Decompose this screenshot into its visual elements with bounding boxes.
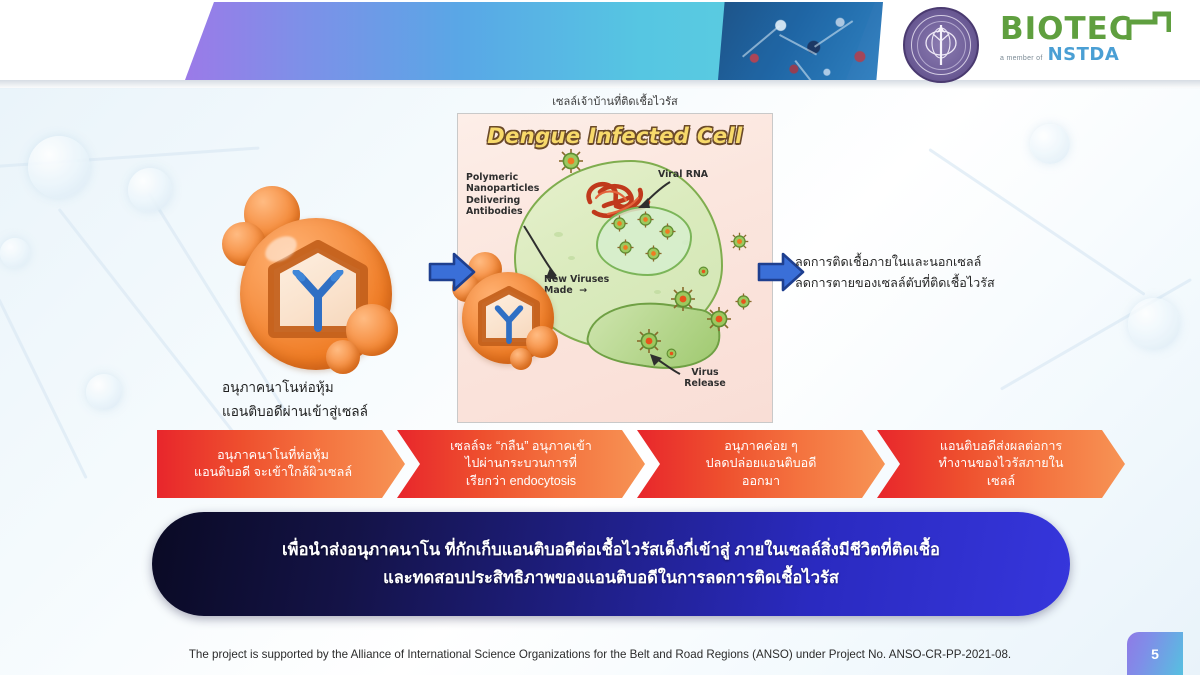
label-polymeric-nanoparticles: PolymericNanoparticlesDeliveringAntibodi… (466, 172, 552, 218)
process-step-1[interactable]: อนุภาคนาโนที่ห่อหุ้ม แอนติบอดี จะเข้าใกล… (157, 430, 405, 498)
process-step-1-line1: อนุภาคนาโนที่ห่อหุ้ม (194, 447, 352, 465)
process-step-3-line3: ออกมา (706, 473, 817, 491)
footer-credit: The project is supported by the Alliance… (0, 648, 1200, 661)
nanoparticle-large (222, 186, 422, 386)
virus-particle-icon (610, 214, 629, 233)
process-step-2-line1: เซลล์จะ “กลืน” อนุภาคเข้า (450, 438, 592, 456)
process-step-4-line3: เซลล์ (939, 473, 1064, 491)
header-band: BIOTEC a member of NSTDA (0, 0, 1200, 88)
virus-particle-icon (616, 238, 635, 257)
outcome-text: ลดการติดเชื้อภายในและนอกเซลล์ ลดการตายขอ… (795, 252, 1045, 294)
virus-particle-icon (644, 244, 663, 263)
process-step-2-line2: ไปผ่านกระบวนการที่ (450, 455, 592, 473)
nanoparticle-caption-line2: แอนติบอดีผ่านเข้าสู่เซลล์ (222, 400, 472, 424)
process-step-1-line2: แอนติบอดี จะเข้าใกล้ผิวเซลล์ (194, 464, 352, 482)
cell-image-title: Dengue Infected Cell (458, 124, 772, 148)
process-step-3-line1: อนุภาคค่อย ๆ (706, 438, 817, 456)
cell-image-caption: เซลล์เจ้าบ้านที่ติดเชื้อไวรัส (455, 92, 775, 110)
nanoparticle-caption: อนุภาคนาโนห่อหุ้ม แอนติบอดีผ่านเข้าสู่เซ… (222, 376, 472, 424)
process-step-4[interactable]: แอนติบอดีส่งผลต่อการ ทำงานของไวรัสภายใน … (877, 430, 1125, 498)
label-virus-release: VirusRelease (676, 367, 734, 390)
nanoparticle-caption-line1: อนุภาคนาโนห่อหุ้ม (222, 376, 472, 400)
virus-particle-icon (658, 222, 677, 241)
conclusion-banner: เพื่อนำส่งอนุภาคนาโน ที่กักเก็บแอนติบอดี… (152, 512, 1070, 616)
process-step-2[interactable]: เซลล์จะ “กลืน” อนุภาคเข้า ไปผ่านกระบวนกา… (397, 430, 645, 498)
conclusion-line-2: และทดสอบประสิทธิภาพของแอนติบอดีในการลดกา… (383, 564, 839, 592)
process-step-4-line1: แอนติบอดีส่งผลต่อการ (939, 438, 1064, 456)
process-step-4-line2: ทำงานของไวรัสภายใน (939, 455, 1064, 473)
slide: BIOTEC a member of NSTDA เซลล์เจ้าบ้านที… (0, 0, 1200, 675)
biotec-logo: BIOTEC a member of NSTDA (1000, 14, 1175, 72)
nstda-wordmark: NSTDA (1048, 46, 1120, 64)
header-shadow (0, 80, 1200, 89)
conclusion-line-1: เพื่อนำส่งอนุภาคนาโน ที่กักเก็บแอนติบอดี… (282, 536, 940, 564)
biotec-member-label: a member of (1000, 55, 1043, 64)
antibody-icon (288, 270, 348, 332)
virus-particle-icon (730, 232, 749, 251)
blue-arrow-icon-left (428, 250, 476, 294)
biotec-swoosh-icon (1125, 10, 1171, 44)
virus-particle-icon (636, 210, 655, 229)
outcome-line-1: ลดการติดเชื้อภายในและนอกเซลล์ (795, 252, 1045, 273)
process-chevron-row: อนุภาคนาโนที่ห่อหุ้ม แอนติบอดี จะเข้าใกล… (157, 430, 1075, 498)
process-step-3[interactable]: อนุภาคค่อย ๆ ปลดปล่อยแอนติบอดี ออกมา (637, 430, 885, 498)
virus-particle-icon (734, 292, 753, 311)
process-step-2-line3: เรียกว่า endocytosis (450, 473, 592, 491)
page-number-badge: 5 (1127, 632, 1183, 675)
molecule-graphic (718, 2, 883, 80)
virus-particle-icon (670, 286, 696, 312)
process-step-3-line2: ปลดปล่อยแอนติบอดี (706, 455, 817, 473)
pointer-arrow-icon (634, 178, 674, 212)
antibody-icon (490, 304, 528, 344)
pointer-arrow-icon (646, 352, 684, 378)
virus-particle-icon (696, 264, 711, 279)
virus-particle-icon (706, 306, 732, 332)
virus-particle-icon (558, 148, 584, 174)
university-seal-logo (903, 7, 979, 83)
outcome-line-2: ลดการตายของเซลล์ตับที่ติดเชื้อไวรัส (795, 273, 1045, 294)
virus-particle-icon (636, 328, 662, 354)
